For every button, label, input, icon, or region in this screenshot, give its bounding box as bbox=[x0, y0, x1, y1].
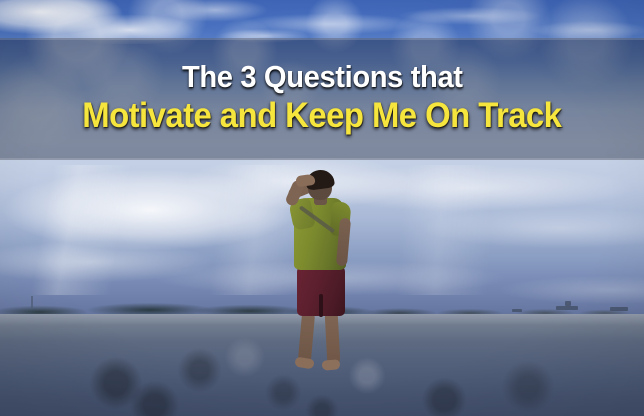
person-left-foot bbox=[294, 357, 314, 370]
title-line-1: The 3 Questions that bbox=[182, 61, 463, 94]
person-right-leg bbox=[325, 312, 341, 365]
title-banner: The 3 Questions that Motivate and Keep M… bbox=[0, 38, 644, 160]
person-left-leg bbox=[298, 312, 315, 363]
person-right-foot bbox=[322, 359, 341, 371]
header-image: The 3 Questions that Motivate and Keep M… bbox=[0, 0, 644, 416]
title-line-2: Motivate and Keep Me On Track bbox=[82, 97, 561, 134]
person-shorts-seam bbox=[319, 294, 323, 317]
